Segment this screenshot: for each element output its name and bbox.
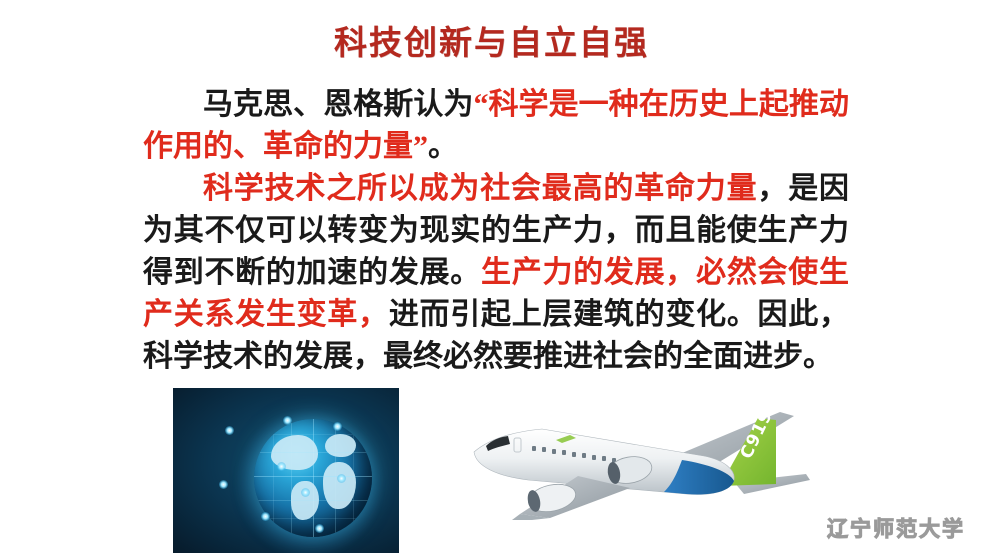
paragraph-1-run-1: 马克思、恩格斯认为 (203, 88, 473, 121)
network-node (283, 416, 292, 425)
landmass-south-america (291, 481, 319, 520)
network-node (301, 488, 310, 497)
network-node (333, 422, 342, 431)
network-node (225, 426, 234, 435)
globe-sphere (254, 419, 372, 537)
airplane-svg: C919 (458, 404, 810, 539)
landmass-africa (323, 462, 356, 509)
network-node (315, 524, 324, 533)
watermark: 辽宁师范大学 (827, 513, 965, 543)
paragraph-2: 科学技术之所以成为社会最高的革命力量，是因为其不仅可以转变为现实的生产力，而且能… (143, 168, 849, 378)
paragraph-2-run-1-highlight: 科学技术之所以成为社会最高的革命力量 (203, 172, 757, 205)
slide-body-text: 马克思、恩格斯认为“科学是一种在历史上起推动作用的、革命的力量”。 科学技术之所… (143, 84, 849, 378)
network-node (261, 512, 270, 521)
network-node (219, 480, 228, 489)
paragraph-1: 马克思、恩格斯认为“科学是一种在历史上起推动作用的、革命的力量”。 (143, 84, 849, 168)
airplane-image: C919 (458, 404, 810, 539)
globe-network-image (173, 388, 399, 553)
paragraph-1-run-3: 。 (428, 130, 458, 163)
presentation-slide: 科技创新与自立自强 马克思、恩格斯认为“科学是一种在历史上起推动作用的、革命的力… (0, 0, 983, 553)
page-title: 科技创新与自立自强 (0, 16, 983, 64)
network-node (337, 474, 346, 483)
landmass-eurasia (325, 434, 356, 458)
network-node (277, 462, 286, 471)
